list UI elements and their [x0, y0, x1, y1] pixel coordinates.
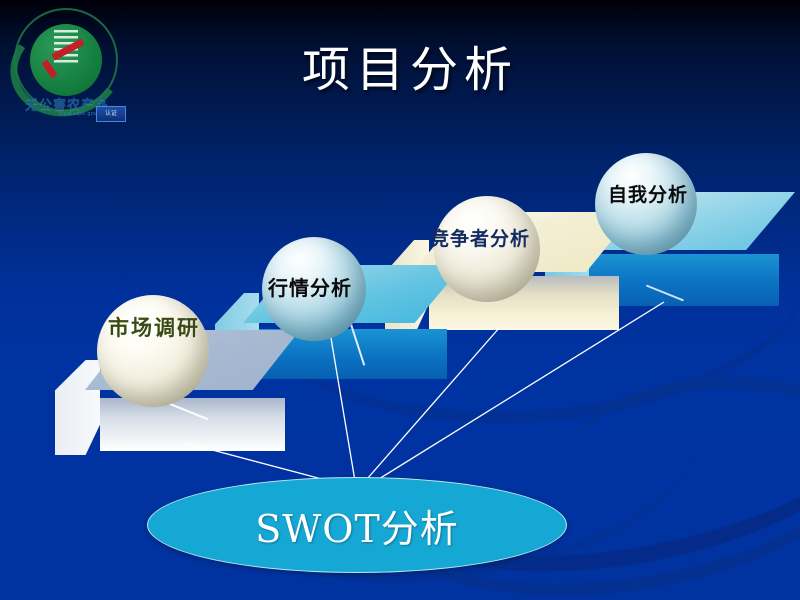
- step-label-1: 市场调研: [108, 312, 200, 342]
- swot-node-label: SWOT分析: [255, 498, 459, 553]
- step-label-2: 行情分析: [268, 272, 352, 301]
- presentation-slide: 无公害农产品 www.aqsc.gov.cn 认证 项目分析: [0, 0, 800, 600]
- step-label-4: 自我分析: [608, 180, 688, 207]
- connector-line-4: [366, 302, 664, 487]
- swot-node[interactable]: SWOT分析: [147, 477, 567, 573]
- connector-line-2: [331, 338, 356, 487]
- connector-line-3: [360, 327, 500, 487]
- step-label-3: 竞争者分析: [430, 224, 530, 251]
